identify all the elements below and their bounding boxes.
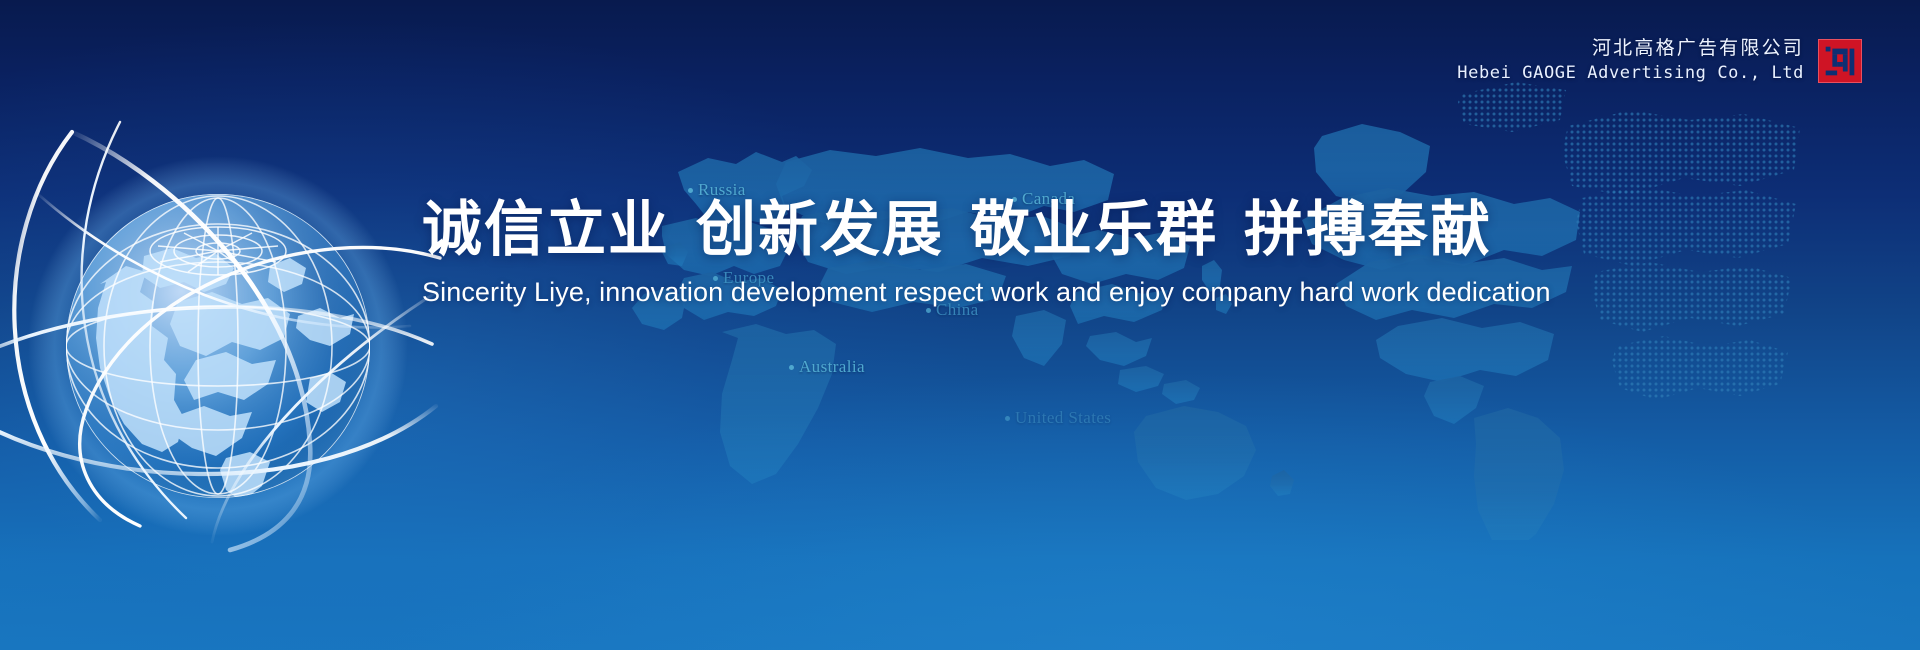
- map-label-australia-text: Australia: [799, 357, 865, 376]
- background-glow-bottom: [0, 0, 1920, 650]
- map-marker-dot: [688, 188, 693, 193]
- background-glow: [0, 0, 1920, 650]
- map-label-united-states: United States: [1005, 408, 1111, 428]
- company-name-cn: 河北高格广告有限公司: [1592, 36, 1804, 60]
- map-marker-dot: [1005, 416, 1010, 421]
- map-marker-dot: [789, 365, 794, 370]
- slogan-english: Sincerity Liye, innovation development r…: [422, 277, 1492, 308]
- globe-graphic: [0, 88, 440, 558]
- map-label-australia: Australia: [789, 357, 865, 377]
- slogan-segment-1: 诚信立业: [422, 195, 670, 265]
- company-name-en: Hebei GAOGE Advertising Co., Ltd: [1457, 63, 1804, 85]
- slogan-segment-2: 创新发展: [696, 195, 944, 265]
- slogan-segment-4: 拼搏奉献: [1244, 195, 1492, 265]
- slogan-segment-3: 敬业乐群: [970, 195, 1218, 265]
- map-marker-dot: [926, 308, 931, 313]
- banner-root: Russia Canada Europe China United States…: [0, 0, 1920, 650]
- map-label-united-states-text: United States: [1015, 408, 1111, 427]
- slogan-chinese: 诚信立业创新发展敬业乐群拼搏奉献: [422, 198, 1492, 263]
- slogan-block: 诚信立业创新发展敬业乐群拼搏奉献 Sincerity Liye, innovat…: [422, 198, 1492, 308]
- company-name-group: 河北高格广告有限公司 Hebei GAOGE Advertising Co., …: [1457, 36, 1804, 85]
- company-identity: 河北高格广告有限公司 Hebei GAOGE Advertising Co., …: [1457, 36, 1862, 85]
- gaoge-logo-icon: [1818, 39, 1862, 83]
